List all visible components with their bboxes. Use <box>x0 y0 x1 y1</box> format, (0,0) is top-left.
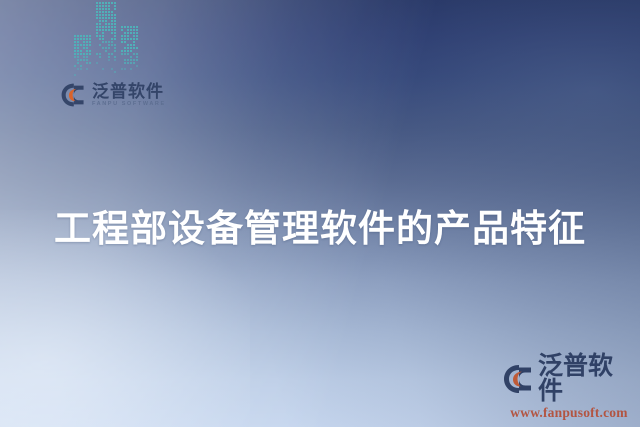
city-pixel <box>99 8 101 10</box>
city-pixel <box>74 41 76 43</box>
city-pixel <box>89 65 91 67</box>
city-pixel <box>121 35 123 37</box>
city-pixel <box>114 5 116 7</box>
city-pixel <box>136 56 138 58</box>
city-pixel <box>136 68 138 70</box>
city-pixel <box>130 71 132 73</box>
city-pixel <box>96 56 98 58</box>
city-pixel <box>133 32 135 34</box>
city-pixel <box>127 50 129 52</box>
city-pixel <box>114 26 116 28</box>
city-pixel <box>124 29 126 31</box>
city-pixel <box>111 32 113 34</box>
city-pixel <box>89 56 91 58</box>
city-pixel <box>108 71 110 73</box>
city-pixel <box>80 35 82 37</box>
city-pixel <box>80 62 82 64</box>
city-pixel <box>77 47 79 49</box>
city-pixel <box>105 35 107 37</box>
city-pixel <box>80 41 82 43</box>
city-pixel <box>136 71 138 73</box>
city-pixel <box>136 59 138 61</box>
city-pixel <box>99 74 101 76</box>
right-tower <box>121 26 140 76</box>
city-pixel <box>96 20 98 22</box>
city-pixel <box>114 35 116 37</box>
city-pixel <box>133 35 135 37</box>
city-pixel <box>77 44 79 46</box>
brand-bottom-row: 泛普软件 <box>502 354 636 404</box>
city-pixel <box>102 17 104 19</box>
city-pixel <box>74 44 76 46</box>
city-pixel <box>77 50 79 52</box>
city-pixel <box>99 68 101 70</box>
city-pixel <box>102 11 104 13</box>
city-pixel <box>114 56 116 58</box>
city-pixel <box>127 38 129 40</box>
city-pixel <box>111 5 113 7</box>
city-pixel <box>127 41 129 43</box>
city-pixel <box>105 17 107 19</box>
city-pixel <box>108 23 110 25</box>
city-pixel <box>83 68 85 70</box>
city-pixel <box>114 50 116 52</box>
city-pixel <box>114 65 116 67</box>
city-pixel <box>89 44 91 46</box>
city-pixel <box>133 56 135 58</box>
city-pixel <box>121 59 123 61</box>
city-pixel <box>83 35 85 37</box>
city-pixel <box>114 47 116 49</box>
city-pixel <box>114 62 116 64</box>
city-pixel <box>136 41 138 43</box>
city-pixel <box>105 68 107 70</box>
city-pixel <box>99 59 101 61</box>
city-pixel <box>99 50 101 52</box>
city-pixel <box>83 59 85 61</box>
city-pixel <box>105 56 107 58</box>
city-pixel <box>108 65 110 67</box>
city-pixel <box>102 44 104 46</box>
city-pixel <box>108 59 110 61</box>
city-pixel <box>102 23 104 25</box>
city-pixel <box>136 47 138 49</box>
city-pixel <box>133 68 135 70</box>
city-pixel <box>121 44 123 46</box>
city-pixel <box>99 2 101 4</box>
city-pixel <box>102 62 104 64</box>
city-pixel <box>83 38 85 40</box>
city-pixel <box>114 23 116 25</box>
city-pixel <box>86 56 88 58</box>
city-pixel <box>96 17 98 19</box>
city-pixel <box>96 71 98 73</box>
city-pixel <box>102 5 104 7</box>
city-pixel <box>96 26 98 28</box>
city-pixel <box>111 44 113 46</box>
city-pixel <box>77 41 79 43</box>
city-pixel <box>102 2 104 4</box>
city-pixel <box>74 71 76 73</box>
city-pixel <box>89 68 91 70</box>
city-pixel <box>102 32 104 34</box>
city-pixel <box>111 56 113 58</box>
city-pixel <box>108 32 110 34</box>
city-pixel <box>121 50 123 52</box>
city-pixel <box>77 71 79 73</box>
city-pixel <box>130 38 132 40</box>
city-pixel <box>130 74 132 76</box>
fanpu-logo-icon <box>502 363 534 395</box>
city-pixel <box>96 44 98 46</box>
city-pixel <box>111 8 113 10</box>
city-pixel <box>105 62 107 64</box>
city-pixel <box>102 68 104 70</box>
city-pixel <box>111 59 113 61</box>
city-pixel <box>114 29 116 31</box>
city-pixel <box>86 47 88 49</box>
city-pixel <box>133 65 135 67</box>
city-pixel <box>108 68 110 70</box>
city-pixel <box>99 17 101 19</box>
city-pixel <box>105 8 107 10</box>
city-pixel <box>114 41 116 43</box>
city-pixel <box>99 29 101 31</box>
city-pixel <box>74 35 76 37</box>
city-pixel <box>127 68 129 70</box>
city-pixel <box>108 29 110 31</box>
slide-canvas: 泛普软件 FANPU SOFTWARE 工程部设备管理软件的产品特征 泛普软件 … <box>0 0 640 427</box>
brand-top-name-en: FANPU SOFTWARE <box>92 102 166 108</box>
city-pixel <box>121 38 123 40</box>
city-pixel <box>127 32 129 34</box>
city-pixel <box>111 17 113 19</box>
city-pixel <box>121 71 123 73</box>
city-pixel <box>102 74 104 76</box>
city-pixel <box>136 74 138 76</box>
city-pixel <box>105 41 107 43</box>
city-pixel <box>114 38 116 40</box>
city-pixel <box>105 26 107 28</box>
city-pixel <box>133 44 135 46</box>
city-pixel <box>111 23 113 25</box>
city-pixel <box>99 26 101 28</box>
city-pixel <box>108 47 110 49</box>
city-pixel <box>105 47 107 49</box>
city-pixel <box>96 23 98 25</box>
city-pixel <box>102 41 104 43</box>
city-pixel <box>102 71 104 73</box>
city-pixel <box>80 68 82 70</box>
city-pixel <box>83 74 85 76</box>
city-pixel <box>102 20 104 22</box>
city-pixel <box>86 59 88 61</box>
city-pixel <box>133 50 135 52</box>
city-pixel <box>108 50 110 52</box>
city-pixel <box>108 62 110 64</box>
city-pixel <box>105 14 107 16</box>
city-pixel <box>74 68 76 70</box>
city-pixel <box>111 65 113 67</box>
city-pixel <box>105 11 107 13</box>
city-pixel <box>89 53 91 55</box>
city-pixel <box>124 41 126 43</box>
city-pixel <box>96 29 98 31</box>
city-pixel <box>127 74 129 76</box>
city-pixel <box>96 41 98 43</box>
city-pixel <box>133 59 135 61</box>
city-pixel <box>105 5 107 7</box>
city-pixel <box>111 74 113 76</box>
city-pixel <box>114 59 116 61</box>
city-pixel <box>121 74 123 76</box>
city-pixel <box>102 35 104 37</box>
city-pixel <box>111 20 113 22</box>
city-pixel <box>83 50 85 52</box>
city-pixel <box>99 11 101 13</box>
city-pixel <box>99 14 101 16</box>
city-pixel <box>130 32 132 34</box>
city-pixel <box>89 35 91 37</box>
city-pixel <box>102 56 104 58</box>
city-pixel <box>89 50 91 52</box>
city-pixel <box>86 74 88 76</box>
city-pixel <box>133 26 135 28</box>
city-pixel <box>130 35 132 37</box>
city-pixel <box>130 53 132 55</box>
city-pixel <box>80 74 82 76</box>
city-pixel <box>86 50 88 52</box>
city-pixel <box>99 62 101 64</box>
city-pixel <box>136 62 138 64</box>
city-pixel <box>114 44 116 46</box>
city-pixel <box>86 53 88 55</box>
city-pixel <box>133 62 135 64</box>
city-pixel <box>80 50 82 52</box>
city-pixel <box>80 47 82 49</box>
city-pixel <box>121 56 123 58</box>
city-pixel <box>105 59 107 61</box>
city-pixel <box>111 68 113 70</box>
city-pixel <box>124 35 126 37</box>
city-pixel <box>96 53 98 55</box>
city-pixel <box>108 20 110 22</box>
city-pixel <box>114 68 116 70</box>
city-pixel <box>102 47 104 49</box>
city-pixel <box>127 53 129 55</box>
city-pixel <box>105 29 107 31</box>
city-pixel <box>105 38 107 40</box>
city-pixel <box>83 44 85 46</box>
city-pixel <box>133 53 135 55</box>
city-pixel <box>77 53 79 55</box>
city-pixel <box>124 47 126 49</box>
city-pixel <box>130 29 132 31</box>
city-pixel <box>99 5 101 7</box>
city-pixel <box>108 5 110 7</box>
city-pixel <box>127 56 129 58</box>
city-pixel <box>124 68 126 70</box>
city-pixel <box>96 35 98 37</box>
city-pixel <box>74 59 76 61</box>
city-pixel <box>99 38 101 40</box>
city-pixel <box>89 59 91 61</box>
city-pixel <box>114 8 116 10</box>
city-pixel <box>124 38 126 40</box>
city-pixel <box>99 53 101 55</box>
city-pixel <box>130 62 132 64</box>
city-pixel <box>111 11 113 13</box>
city-pixel <box>136 26 138 28</box>
city-pixel <box>124 32 126 34</box>
city-pixel <box>127 65 129 67</box>
city-pixel <box>127 47 129 49</box>
city-pixel <box>111 41 113 43</box>
city-pixel <box>99 32 101 34</box>
city-pixel <box>127 62 129 64</box>
brand-bottom-url: www.fanpusoft.com <box>502 405 636 421</box>
city-pixel <box>105 71 107 73</box>
city-pixel <box>96 68 98 70</box>
city-pixel <box>77 68 79 70</box>
city-pixel <box>127 35 129 37</box>
city-pixel <box>96 14 98 16</box>
city-pixel <box>111 26 113 28</box>
city-pixel <box>114 20 116 22</box>
city-pixel <box>105 50 107 52</box>
city-pixel <box>74 50 76 52</box>
city-pixel <box>108 11 110 13</box>
city-pixel <box>83 71 85 73</box>
city-pixel <box>121 26 123 28</box>
city-pixel <box>133 47 135 49</box>
city-pixel <box>102 65 104 67</box>
city-pixel <box>86 65 88 67</box>
city-pixel <box>108 14 110 16</box>
city-pixel <box>130 65 132 67</box>
city-pixel <box>121 32 123 34</box>
city-pixel <box>124 59 126 61</box>
city-pixel <box>124 65 126 67</box>
city-pixel <box>89 71 91 73</box>
city-pixel <box>127 44 129 46</box>
city-pixel <box>136 53 138 55</box>
city-pixel <box>89 38 91 40</box>
city-pixel <box>111 38 113 40</box>
city-pixel <box>108 53 110 55</box>
city-pixel <box>133 29 135 31</box>
city-pixel <box>130 41 132 43</box>
city-pixel <box>133 74 135 76</box>
city-pixel <box>130 59 132 61</box>
city-pixel <box>96 47 98 49</box>
city-pixel <box>96 38 98 40</box>
city-pixel <box>108 56 110 58</box>
city-pixel <box>133 71 135 73</box>
city-pixel <box>130 47 132 49</box>
city-pixel <box>105 2 107 4</box>
city-pixel <box>114 2 116 4</box>
city-pixel <box>136 44 138 46</box>
city-pixel <box>111 62 113 64</box>
city-pixel <box>99 47 101 49</box>
city-pixel <box>86 71 88 73</box>
city-pixel <box>99 20 101 22</box>
city-pixel <box>80 56 82 58</box>
city-pixel <box>102 8 104 10</box>
city-pixel <box>86 68 88 70</box>
city-pixel <box>130 68 132 70</box>
city-pixel <box>121 53 123 55</box>
city-pixel <box>80 44 82 46</box>
city-pixel <box>80 59 82 61</box>
fanpu-logo-icon <box>60 82 86 108</box>
city-pixel <box>80 65 82 67</box>
city-pixel <box>83 62 85 64</box>
left-tower <box>74 35 92 76</box>
slide-headline: 工程部设备管理软件的产品特征 <box>0 208 640 251</box>
city-pixel <box>99 23 101 25</box>
city-pixel <box>89 47 91 49</box>
city-pixel <box>105 74 107 76</box>
city-pixel <box>77 56 79 58</box>
city-pixel <box>136 38 138 40</box>
city-pixel <box>74 74 76 76</box>
city-pixel <box>77 62 79 64</box>
city-pixel <box>77 74 79 76</box>
city-pixel <box>127 26 129 28</box>
city-pixel <box>121 47 123 49</box>
city-pixel <box>80 71 82 73</box>
city-pixel <box>77 65 79 67</box>
city-pixel <box>74 53 76 55</box>
city-pixel <box>124 50 126 52</box>
city-pixel <box>124 53 126 55</box>
city-pixel <box>133 41 135 43</box>
city-pixel <box>111 47 113 49</box>
city-pixel <box>130 50 132 52</box>
city-pixel <box>83 47 85 49</box>
brand-lockup-bottom: 泛普软件 www.fanpusoft.com <box>502 354 636 421</box>
city-pixel <box>74 56 76 58</box>
city-pixel <box>136 65 138 67</box>
city-pixel <box>111 53 113 55</box>
city-pixel <box>96 59 98 61</box>
city-pixel <box>114 32 116 34</box>
city-pixel <box>105 20 107 22</box>
city-pixel <box>102 53 104 55</box>
city-pixel <box>124 62 126 64</box>
city-pixel <box>105 44 107 46</box>
center-tower <box>96 2 117 76</box>
city-pixel <box>108 74 110 76</box>
city-pixel <box>102 38 104 40</box>
brand-bottom-name-cn: 泛普软件 <box>538 354 636 404</box>
city-pixel <box>83 53 85 55</box>
city-pixel <box>114 74 116 76</box>
city-pixel <box>130 56 132 58</box>
city-pixel <box>102 29 104 31</box>
city-pixel <box>99 35 101 37</box>
city-pixel <box>77 38 79 40</box>
city-pixel <box>114 11 116 13</box>
city-pixel <box>96 65 98 67</box>
city-pixel <box>114 53 116 55</box>
city-pixel <box>130 44 132 46</box>
city-pixel <box>74 47 76 49</box>
city-pixel <box>86 38 88 40</box>
city-pixel <box>77 35 79 37</box>
